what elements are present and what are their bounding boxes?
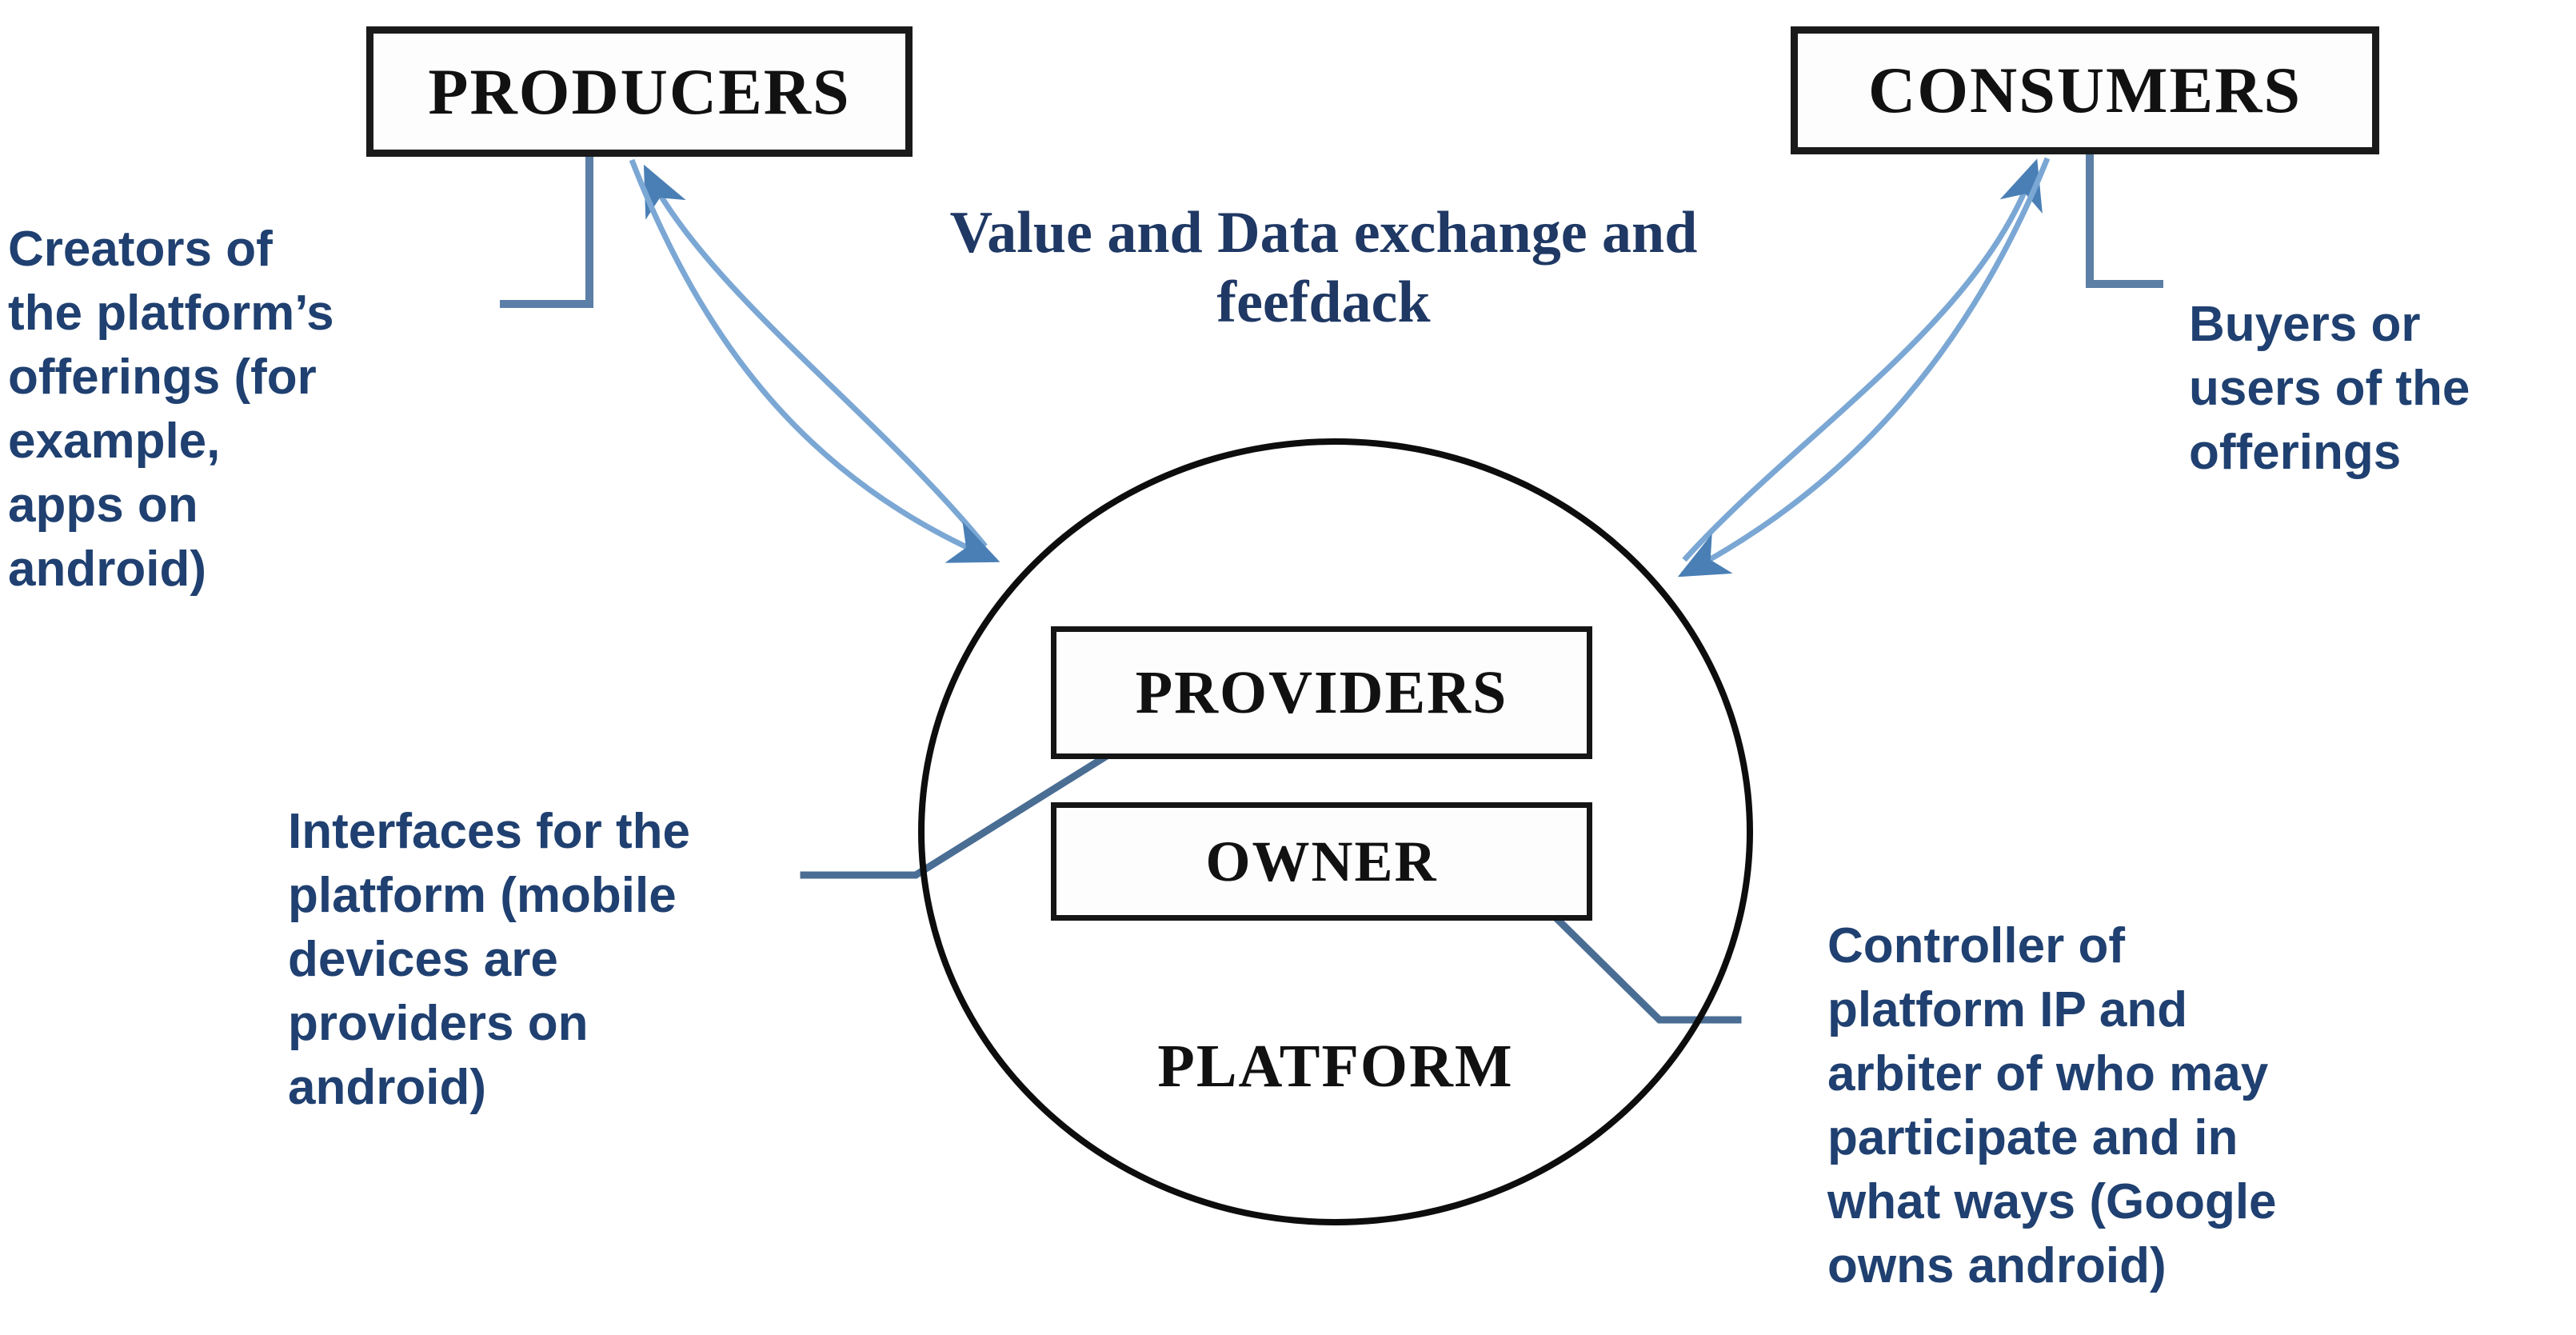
providers-caption: Interfaces for the platform (mobile devi… (288, 800, 712, 1120)
consumers-caption: Buyers or users of the offerings (2189, 293, 2565, 485)
consumers-node-label: CONSUMERS (1868, 53, 2302, 128)
providers-node[interactable]: PROVIDERS (1051, 626, 1592, 759)
producers-node-label: PRODUCERS (428, 54, 850, 130)
platform-ecosystem-diagram: PLATFORM PRODUCERS CONSUMERS PROVIDERS O… (0, 0, 2576, 1335)
producers-node[interactable]: PRODUCERS (366, 26, 913, 157)
providers-node-label: PROVIDERS (1136, 658, 1508, 728)
producers-caption: Creators of the platform’s offerings (fo… (8, 218, 344, 602)
value-data-exchange-label: Value and Data exchange and feefdack (872, 198, 1775, 338)
owner-node-label: OWNER (1205, 829, 1437, 895)
leader-consumers-caption (2090, 158, 2159, 284)
owner-node[interactable]: OWNER (1051, 802, 1592, 921)
platform-label: PLATFORM (918, 1032, 1753, 1101)
consumers-node[interactable]: CONSUMERS (1791, 26, 2379, 154)
leader-producers-caption (504, 158, 589, 304)
owner-caption: Controller of platform IP and arbiter of… (1827, 914, 2307, 1298)
